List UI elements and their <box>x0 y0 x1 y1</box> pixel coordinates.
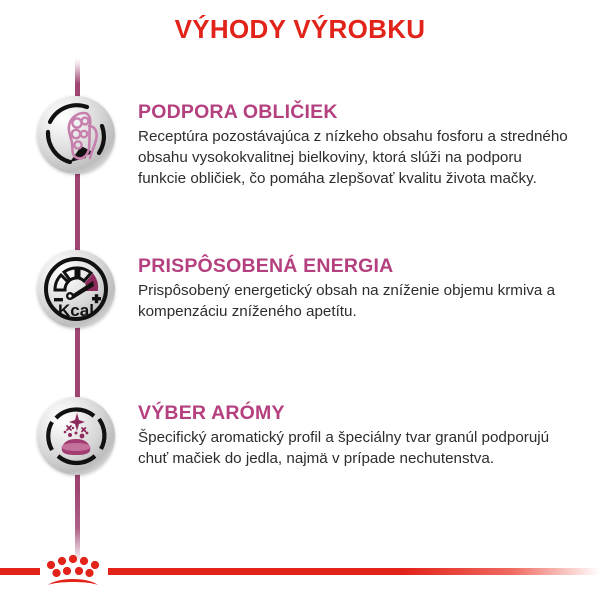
icon-container <box>27 397 125 475</box>
feature-body: Špecifický aromatický profil a špeciálny… <box>138 428 568 470</box>
feature-item-adapted-energy: Kcal PRISPÔSOBENÁ ENERGIA Prispôsobený e… <box>0 250 600 328</box>
icon-container <box>27 96 125 174</box>
royal-canin-crown-logo <box>42 552 104 590</box>
feature-text-block: PRISPÔSOBENÁ ENERGIA Prispôsobený energe… <box>125 250 600 323</box>
feature-heading: PRISPÔSOBENÁ ENERGIA <box>138 256 584 278</box>
footer-brand-strip <box>0 542 600 600</box>
feature-item-kidney-support: PODPORA OBLIČIEK Receptúra pozostávajúca… <box>0 96 600 190</box>
feature-body: Receptúra pozostávajúca z nízkeho obsahu… <box>138 127 568 190</box>
kidney-support-icon <box>37 96 115 174</box>
footer-rule-left <box>0 568 40 575</box>
feature-heading: VÝBER ARÓMY <box>138 403 584 425</box>
feature-item-aroma-selection: VÝBER ARÓMY Špecifický aromatický profil… <box>0 397 600 475</box>
feature-text-block: VÝBER ARÓMY Špecifický aromatický profil… <box>125 397 600 470</box>
kcal-gauge-icon: Kcal <box>37 250 115 328</box>
svg-text:Kcal: Kcal <box>58 301 94 320</box>
feature-heading: PODPORA OBLIČIEK <box>138 102 584 124</box>
footer-rule-right <box>108 568 600 575</box>
feature-text-block: PODPORA OBLIČIEK Receptúra pozostávajúca… <box>125 96 600 190</box>
feature-body: Prispôsobený energetický obsah na znížen… <box>138 281 568 323</box>
product-benefits-panel: VÝHODY VÝROBKU <box>0 0 600 600</box>
aroma-bowl-icon <box>37 397 115 475</box>
icon-container: Kcal <box>27 250 125 328</box>
page-title: VÝHODY VÝROBKU <box>0 14 600 45</box>
